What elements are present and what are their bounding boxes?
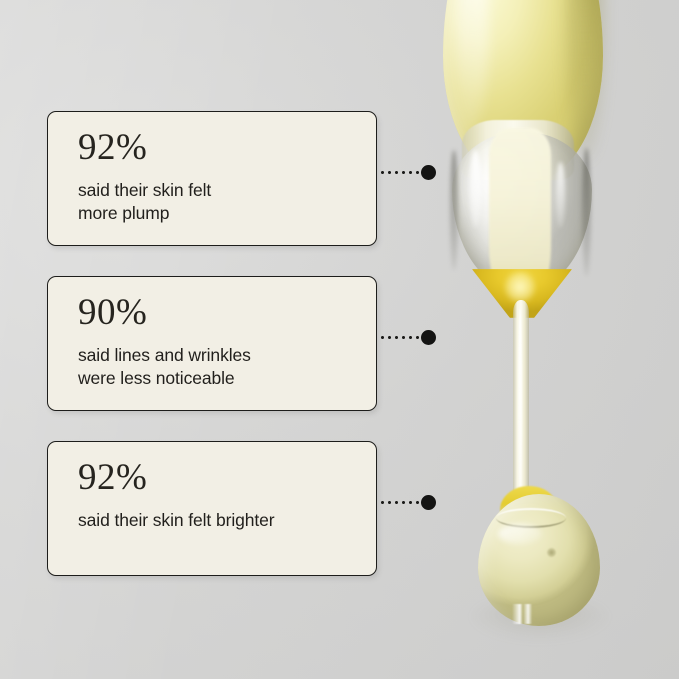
stat-description: said their skin felt brighter — [78, 509, 350, 532]
dotted-connector-line — [379, 336, 423, 339]
dotted-connector-line — [379, 171, 423, 174]
stat-card-content: 90% said lines and wrinkles were less no… — [48, 277, 376, 390]
stat-card-content: 92% said their skin felt brighter — [48, 442, 376, 532]
stat-card-list: 92% said their skin felt more plump 90% … — [0, 0, 679, 679]
connector-end-dot-icon — [421, 495, 436, 510]
stat-percentage: 92% — [78, 129, 350, 166]
connector-end-dot-icon — [421, 330, 436, 345]
infographic-canvas: 92% said their skin felt more plump 90% … — [0, 0, 679, 679]
stat-card: 90% said lines and wrinkles were less no… — [47, 276, 377, 411]
stat-card-content: 92% said their skin felt more plump — [48, 112, 376, 225]
stat-card: 92% said their skin felt more plump — [47, 111, 377, 246]
stat-percentage: 92% — [78, 459, 350, 496]
dotted-connector-line — [379, 501, 423, 504]
stat-description: said their skin felt more plump — [78, 179, 350, 225]
stat-percentage: 90% — [78, 294, 350, 331]
connector-end-dot-icon — [421, 165, 436, 180]
stat-description: said lines and wrinkles were less notice… — [78, 344, 350, 390]
stat-card: 92% said their skin felt brighter — [47, 441, 377, 576]
